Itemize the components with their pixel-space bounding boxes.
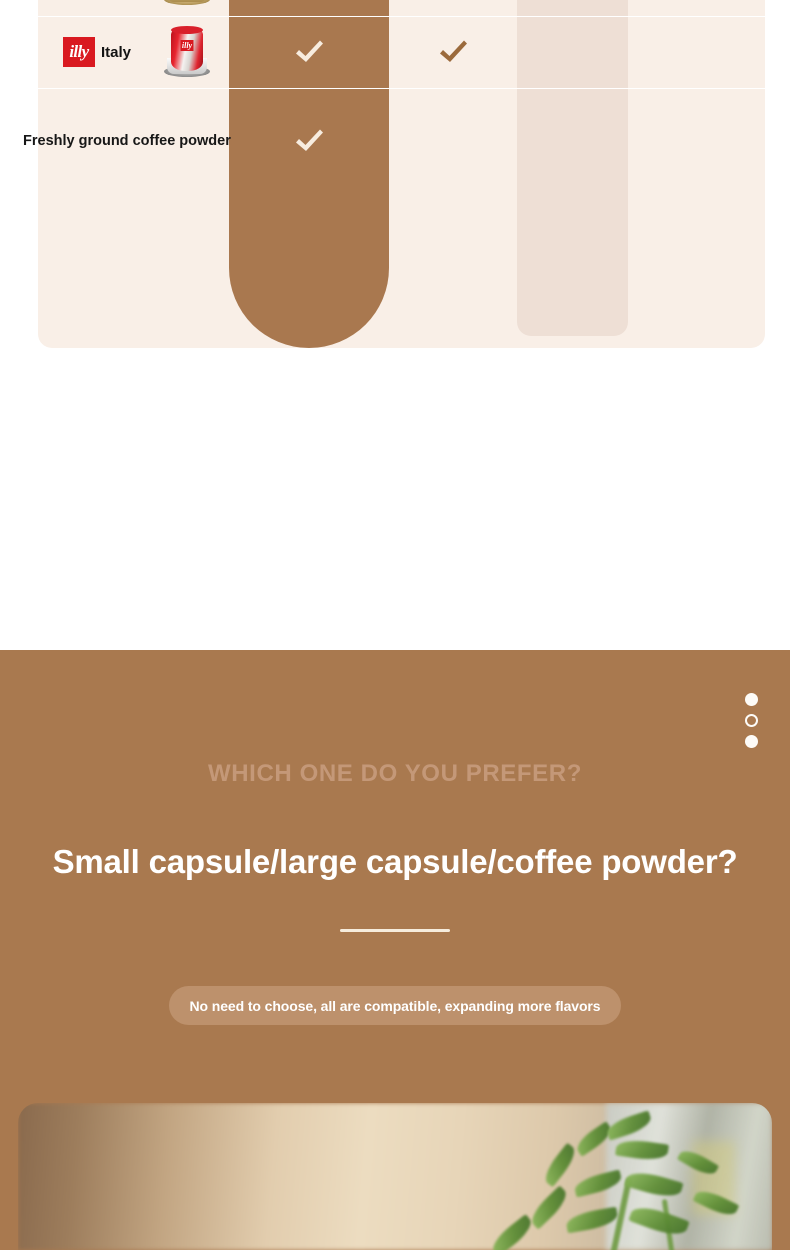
check-cell-column-2 [389, 16, 517, 88]
capsule-image: illy [152, 23, 222, 81]
page-root: Thought SCISHARE 07 [0, 0, 790, 1250]
check-cell-column-4 [628, 16, 765, 88]
capsule-image: MAISON L'OR [152, 0, 222, 9]
pagination-dot-1[interactable] [745, 693, 758, 706]
brand-mark: illy [63, 37, 95, 67]
check-cell-column-4 [628, 88, 765, 193]
pagination-dot-2[interactable] [745, 714, 758, 727]
brand-mark-text: illy [69, 42, 88, 62]
brand-cell[interactable]: illy Italy illy [38, 16, 229, 88]
brand-name: Italy [101, 44, 131, 61]
check-cell-column-1 [229, 0, 389, 16]
interior-wall-with-plant-photo [18, 1103, 772, 1250]
promo-cta-button[interactable]: No need to choose, all are compatible, e… [169, 986, 621, 1025]
brand-cell: Freshly ground coffee powder [38, 88, 229, 193]
brand-cell[interactable]: France·L'OR MAISON L'OR [38, 0, 229, 16]
check-cell-column-1 [229, 88, 389, 193]
check-cell-column-2 [389, 88, 517, 193]
illy-logo: illy Italy [63, 37, 131, 67]
table-rows: Thought SCISHARE 07 [38, 0, 765, 193]
table-row: France·L'OR MAISON L'OR [38, 0, 765, 16]
carousel-pagination [745, 693, 758, 748]
check-icon [292, 35, 326, 69]
check-icon [292, 124, 326, 158]
promo-eyebrow: WHICH ONE DO YOU PREFER? [0, 760, 790, 788]
check-cell-column-3 [517, 88, 628, 193]
compatibility-comparison-table: Thought SCISHARE 07 [38, 0, 765, 348]
check-cell-column-4 [628, 0, 765, 16]
capsule-label: illy [181, 40, 194, 51]
check-cell-column-1 [229, 16, 389, 88]
promo-title: Small capsule/large capsule/coffee powde… [0, 843, 790, 881]
table-row: Freshly ground coffee powder [38, 88, 765, 193]
check-cell-column-3 [517, 16, 628, 88]
brand-name: Freshly ground coffee powder [23, 88, 233, 193]
title-divider [340, 929, 450, 932]
check-icon [436, 35, 470, 69]
pagination-dot-3[interactable] [745, 735, 758, 748]
check-cell-column-2 [389, 0, 517, 16]
check-cell-column-3 [517, 0, 628, 16]
table-row: illy Italy illy [38, 16, 765, 88]
